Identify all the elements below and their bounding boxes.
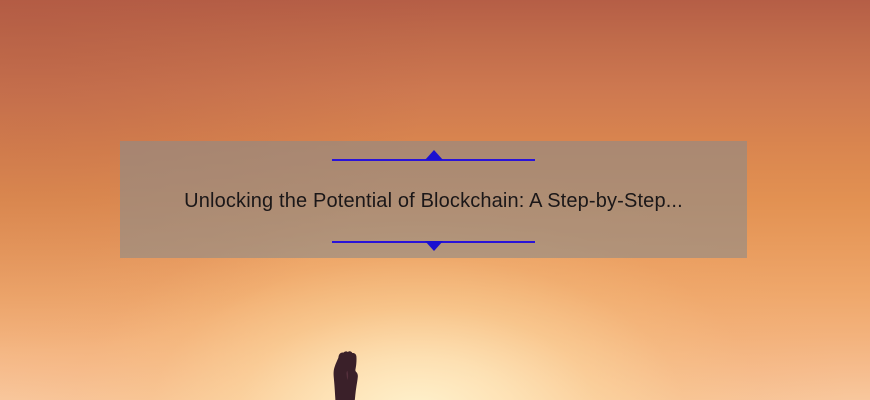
top-divider (332, 154, 535, 165)
triangle-down-icon[interactable] (425, 241, 443, 251)
screenshot-stage: Unlocking the Potential of Blockchain: A… (0, 0, 870, 400)
raised-fist-icon (322, 348, 368, 400)
triangle-up-icon[interactable] (425, 150, 443, 160)
hero-title-panel: Unlocking the Potential of Blockchain: A… (120, 141, 747, 258)
page-title: Unlocking the Potential of Blockchain: A… (120, 165, 747, 236)
bottom-divider (332, 236, 535, 247)
